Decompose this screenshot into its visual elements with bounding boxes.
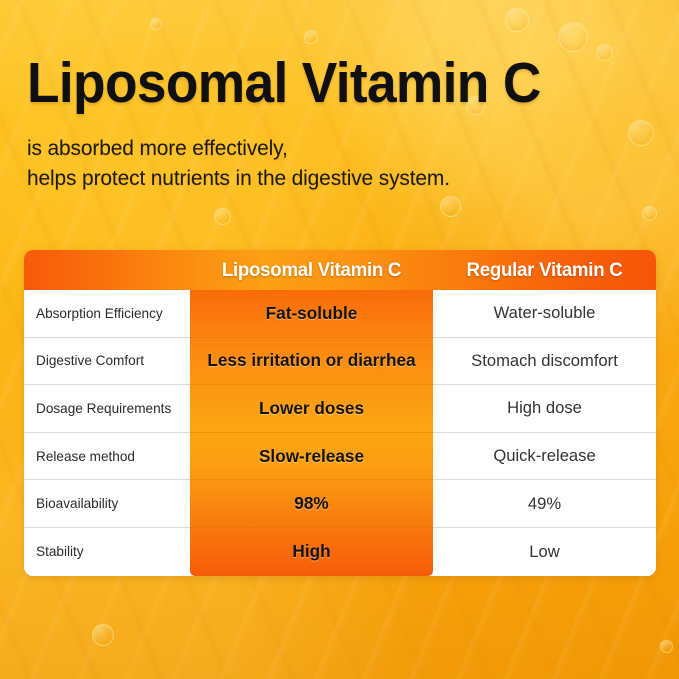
table-header-regular: Regular Vitamin C: [437, 250, 651, 290]
row-liposomal-value: High: [190, 528, 433, 576]
comparison-table: Liposomal Vitamin C Regular Vitamin C Ab…: [24, 250, 656, 576]
page-subtitle: is absorbed more effectively, helps prot…: [27, 133, 651, 193]
row-liposomal-value: 98%: [190, 480, 433, 528]
table-row: Digestive ComfortLess irritation or diar…: [24, 338, 656, 386]
row-regular-value: High dose: [433, 385, 656, 433]
table-body: Absorption EfficiencyFat-solubleWater-so…: [24, 290, 656, 576]
page-title: Liposomal Vitamin C: [27, 54, 625, 113]
table-row: StabilityHighLow: [24, 528, 656, 576]
row-regular-value: Stomach discomfort: [433, 338, 656, 386]
table-header-attribute: [27, 250, 186, 290]
row-attribute-label: Dosage Requirements: [24, 385, 190, 433]
row-liposomal-value: Lower doses: [190, 385, 433, 433]
table-row: Bioavailability98%49%: [24, 480, 656, 528]
row-regular-value: Quick-release: [433, 433, 656, 481]
table-row: Dosage RequirementsLower dosesHigh dose: [24, 385, 656, 433]
row-regular-value: 49%: [433, 480, 656, 528]
row-regular-value: Low: [433, 528, 656, 576]
row-liposomal-value: Fat-soluble: [190, 290, 433, 338]
row-regular-value: Water-soluble: [433, 290, 656, 338]
table-header-row: Liposomal Vitamin C Regular Vitamin C: [24, 250, 656, 290]
subtitle-line-2: helps protect nutrients in the digestive…: [27, 163, 651, 193]
headline-block: Liposomal Vitamin C is absorbed more eff…: [27, 54, 667, 193]
row-attribute-label: Stability: [24, 528, 190, 576]
row-liposomal-value: Slow-release: [190, 433, 433, 481]
table-row: Absorption EfficiencyFat-solubleWater-so…: [24, 290, 656, 338]
row-attribute-label: Digestive Comfort: [24, 338, 190, 386]
row-liposomal-value: Less irritation or diarrhea: [190, 338, 433, 386]
row-attribute-label: Bioavailability: [24, 480, 190, 528]
subtitle-line-1: is absorbed more effectively,: [27, 133, 651, 163]
table-row: Release methodSlow-releaseQuick-release: [24, 433, 656, 481]
table-header-liposomal: Liposomal Vitamin C: [195, 250, 428, 290]
row-attribute-label: Release method: [24, 433, 190, 481]
row-attribute-label: Absorption Efficiency: [24, 290, 190, 338]
